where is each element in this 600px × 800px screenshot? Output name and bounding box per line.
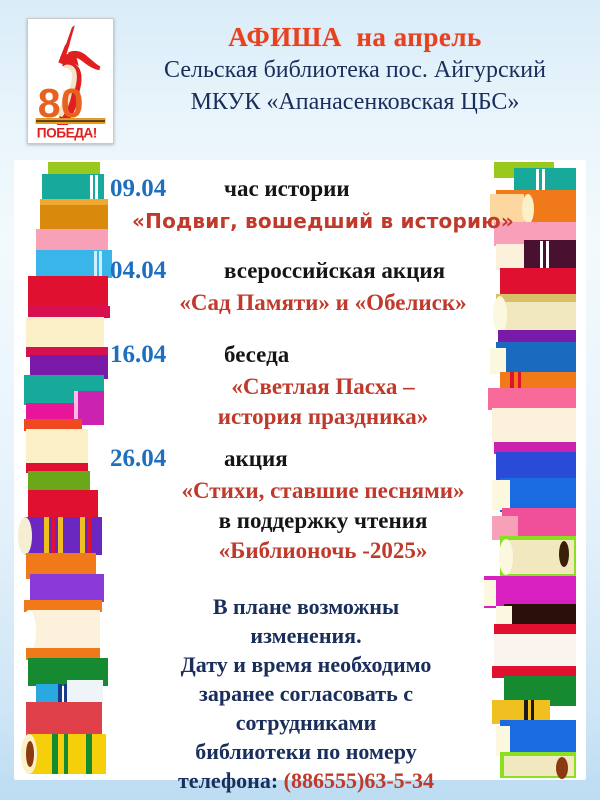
footer-note: В плане возможны изменения. Дату и время…	[110, 592, 502, 795]
event-head: 09.04 час истории	[14, 172, 586, 206]
event-item: 09.04 час истории «Подвиг, вошедший в ис…	[14, 172, 586, 236]
footer-phone-line: телефона: (886555)63-5-34	[110, 766, 502, 795]
event-item: 26.04 акция «Стихи, ставшие песнями» в п…	[14, 442, 586, 566]
library-name-line2: МКУК «Апанасенковская ЦБС»	[120, 86, 590, 118]
footer-line-1: В плане возможны	[110, 592, 502, 621]
event-date: 16.04	[110, 338, 202, 372]
event-title: «Подвиг, вошедший в историю»	[14, 206, 586, 236]
footer-line-4: заранее согласовать с	[110, 679, 502, 708]
event-kind: акция	[202, 442, 288, 476]
event-item: 16.04 беседа «Светлая Пасха – история пр…	[14, 338, 586, 432]
event-title-line2: история праздника»	[14, 402, 586, 432]
event-head: 26.04 акция	[14, 442, 586, 476]
footer-line-5: сотрудниками	[110, 708, 502, 737]
victory-80-emblem-icon: 80 ПОБЕДА!	[27, 18, 114, 144]
events-list: 09.04 час истории «Подвиг, вошедший в ис…	[14, 172, 586, 576]
poster-root: 80 ПОБЕДА! АФИША на апрель Сельская библ…	[0, 0, 600, 800]
footer-line-2: изменения.	[110, 621, 502, 650]
header-text-block: АФИША на апрель Сельская библиотека пос.…	[120, 20, 590, 118]
event-extra-line: в поддержку чтения	[14, 506, 586, 536]
event-date: 04.04	[110, 254, 202, 288]
phone-number: (886555)63-5-34	[284, 768, 434, 793]
event-title: «Сад Памяти» и «Обелиск»	[14, 288, 586, 318]
event-kind: час истории	[202, 172, 350, 206]
footer-line-6: библиотеки по номеру	[110, 737, 502, 766]
event-head: 16.04 беседа	[14, 338, 586, 372]
event-date: 09.04	[110, 172, 202, 206]
footer-phone-label: телефона:	[178, 768, 278, 793]
event-extra-title: «Библионочь -2025»	[14, 536, 586, 566]
library-name-line1: Сельская библиотека пос. Айгурский	[120, 54, 590, 86]
svg-text:ПОБЕДА!: ПОБЕДА!	[37, 126, 97, 141]
event-kind: беседа	[202, 338, 289, 372]
event-head: 04.04 всероссийская акция	[14, 254, 586, 288]
event-date: 26.04	[110, 442, 202, 476]
poster-title: АФИША на апрель	[120, 20, 590, 54]
event-item: 04.04 всероссийская акция «Сад Памяти» и…	[14, 254, 586, 318]
event-kind: всероссийская акция	[202, 254, 445, 288]
footer-line-3: Дату и время необходимо	[110, 650, 502, 679]
poster-header: 80 ПОБЕДА! АФИША на апрель Сельская библ…	[0, 0, 600, 160]
event-title: «Светлая Пасха –	[14, 372, 586, 402]
event-title: «Стихи, ставшие песнями»	[14, 476, 586, 506]
